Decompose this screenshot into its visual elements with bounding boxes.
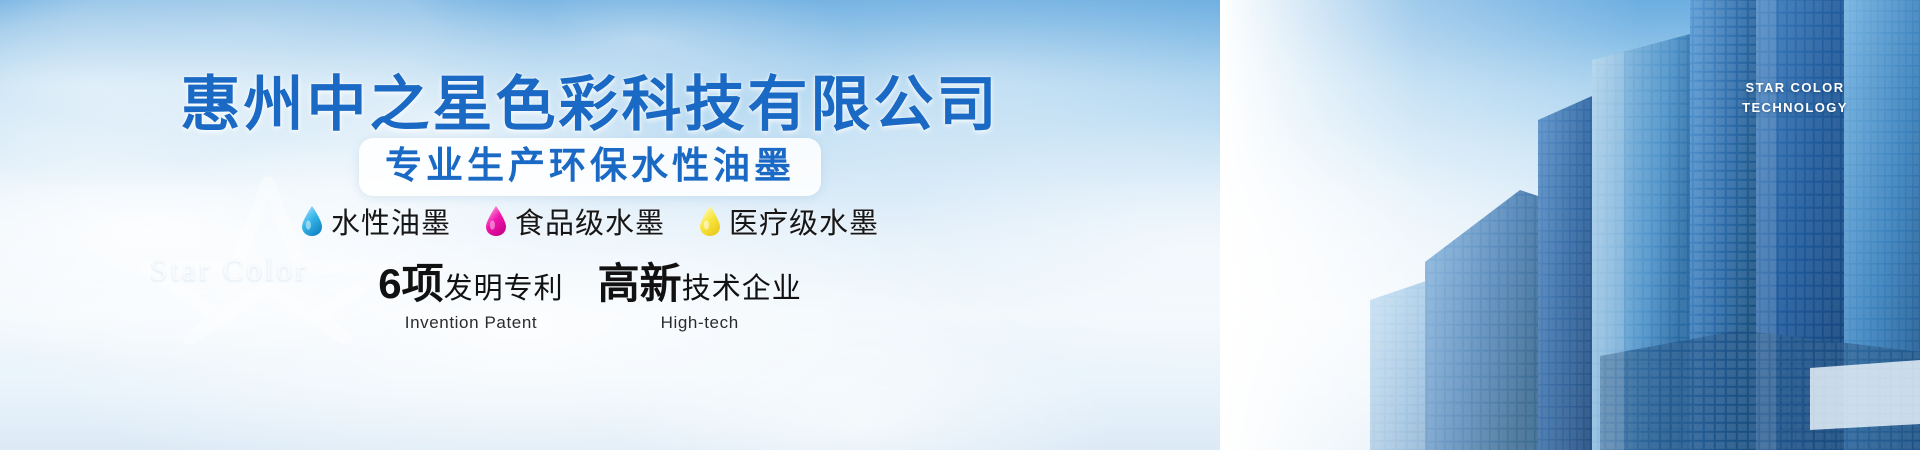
feature-item: 水性油墨 <box>301 200 451 242</box>
city-skyline-image <box>1220 0 1920 450</box>
subtitle-container: 专业生产环保水性油墨 <box>0 138 1180 196</box>
water-drop-icon <box>485 205 507 237</box>
corner-brand-label: STAR COLOR TECHNOLOGY <box>1730 78 1860 118</box>
subtitle-pill: 专业生产环保水性油墨 <box>359 138 821 196</box>
badge-item: 6项发明专利 Invention Patent <box>378 262 563 333</box>
badge-strong-text: 6项 <box>378 260 443 307</box>
badge-rest-text: 发明专利 <box>444 273 564 305</box>
promo-banner: Star Color <box>0 0 1920 450</box>
water-drop-icon <box>699 205 721 237</box>
feature-item: 医疗级水墨 <box>699 200 879 242</box>
badge-english: High-tech <box>598 313 802 333</box>
corner-brand-line1: STAR COLOR <box>1730 78 1860 98</box>
feature-label: 食品级水墨 <box>515 200 665 242</box>
badge-chinese: 6项发明专利 <box>378 262 563 306</box>
badge-strong-text: 高新 <box>598 260 682 307</box>
feature-label: 水性油墨 <box>331 200 451 242</box>
company-title: 惠州中之星色彩科技有限公司 <box>0 56 1180 143</box>
subtitle-text: 专业生产环保水性油墨 <box>385 147 795 184</box>
feature-list: 水性油墨 <box>0 200 1180 242</box>
corner-brand-line2: TECHNOLOGY <box>1730 98 1860 118</box>
badge-list: 6项发明专利 Invention Patent 高新技术企业 High-tech <box>0 262 1180 333</box>
badge-item: 高新技术企业 High-tech <box>598 262 802 333</box>
badge-rest-text: 技术企业 <box>682 273 802 305</box>
badge-chinese: 高新技术企业 <box>598 262 802 306</box>
feature-label: 医疗级水墨 <box>729 200 879 242</box>
banner-content: 惠州中之星色彩科技有限公司 专业生产环保水性油墨 <box>0 0 1180 450</box>
feature-item: 食品级水墨 <box>485 200 665 242</box>
badge-english: Invention Patent <box>378 313 563 333</box>
water-drop-icon <box>301 205 323 237</box>
